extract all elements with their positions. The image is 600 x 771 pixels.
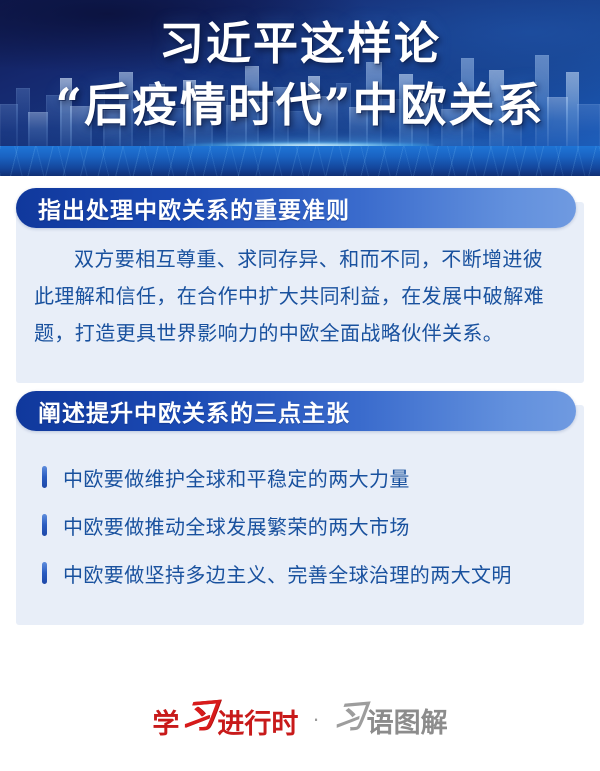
bullet-bar-icon (42, 514, 47, 536)
section-heading-pill-2: 阐述提升中欧关系的三点主张 (16, 391, 576, 431)
hero-banner: 习近平这样论 “后疫情时代”中欧关系 (0, 0, 600, 176)
section-heading-pill-1: 指出处理中欧关系的重要准则 (16, 188, 576, 228)
page-title: 习近平这样论 “后疫情时代”中欧关系 (0, 14, 600, 136)
logo-xuexi-jinxingshi: 学 习 进行时 (152, 694, 298, 743)
section-principles: 指出处理中欧关系的重要准则 双方要相互尊重、求同存异、和而不同，不断增进彼此理解… (16, 202, 584, 383)
section-paragraph-1: 双方要相互尊重、求同存异、和而不同，不断增进彼此理解和信任，在合作中扩大共同利益… (16, 242, 584, 353)
calligraphic-xi-gray-icon: 习 (331, 690, 368, 739)
logo-secondary-suffix-text: 语图解 (367, 701, 448, 740)
footer-logo: 学 习 进行时 · 习 语图解 (0, 694, 600, 743)
logo-xiyu-tujie: 习 语图解 (334, 696, 448, 742)
logo-prefix-text: 学 (152, 702, 179, 741)
content-area: 指出处理中欧关系的重要准则 双方要相互尊重、求同存异、和而不同，不断增进彼此理解… (0, 176, 600, 625)
list-item: 中欧要做坚持多边主义、完善全球治理的两大文明 (16, 549, 584, 597)
list-item: 中欧要做维护全球和平稳定的两大力量 (16, 453, 584, 501)
list-item-label: 中欧要做坚持多边主义、完善全球治理的两大文明 (63, 559, 512, 588)
section-heading-text-1: 指出处理中欧关系的重要准则 (16, 191, 350, 225)
list-item-label: 中欧要做推动全球发展繁荣的两大市场 (63, 511, 410, 540)
title-line-1: 习近平这样论 (0, 14, 600, 74)
section-proposals: 阐述提升中欧关系的三点主张 中欧要做维护全球和平稳定的两大力量 中欧要做推动全球… (16, 405, 584, 625)
section-heading-text-2: 阐述提升中欧关系的三点主张 (16, 394, 350, 428)
title-line-2: “后疫情时代”中欧关系 (0, 74, 600, 136)
list-item: 中欧要做推动全球发展繁荣的两大市场 (16, 501, 584, 549)
ground-reflection (0, 146, 600, 176)
logo-separator-dot-icon: · (308, 708, 323, 730)
proposal-list: 中欧要做维护全球和平稳定的两大力量 中欧要做推动全球发展繁荣的两大市场 中欧要做… (16, 445, 584, 597)
bullet-bar-icon (42, 562, 47, 584)
bullet-bar-icon (42, 466, 47, 488)
calligraphic-xi-icon: 习 (179, 688, 219, 740)
logo-suffix-text: 进行时 (217, 702, 298, 741)
list-item-label: 中欧要做维护全球和平稳定的两大力量 (63, 463, 410, 492)
